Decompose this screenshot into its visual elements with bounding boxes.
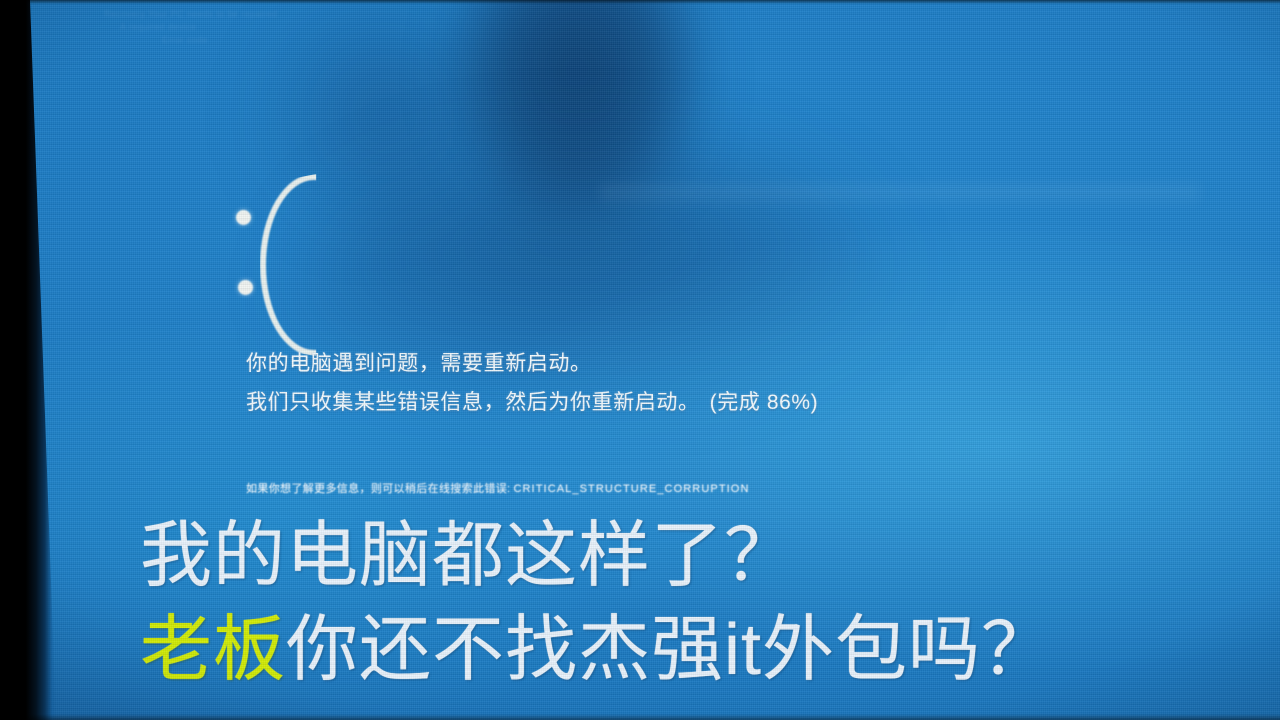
sad-face-icon (232, 196, 342, 316)
caption-highlight-word: 老板 (140, 610, 286, 690)
caption-line-2: 老板你还不找杰强it外包吗？ (140, 610, 1240, 690)
bsod-message-line-2-row: 我们只收集某些错误信息，然后为你重新启动。(完成 86%) (246, 387, 818, 418)
bsod-hint-line: 如果你想了解更多信息，则可以稍后在线搜索此错误:CRITICAL_STRUCTU… (246, 482, 750, 497)
sad-face-frown-arc (260, 174, 368, 356)
bsod-stop-code: CRITICAL_STRUCTURE_CORRUPTION (513, 483, 749, 495)
bsod-message-line-2: 我们只收集某些错误信息，然后为你重新启动。 (246, 391, 700, 414)
bsod-hint-prefix: 如果你想了解更多信息，则可以稍后在线搜索此错误: (246, 483, 510, 495)
bsod-message-block: 你的电脑遇到问题，需要重新启动。 我们只收集某些错误信息，然后为你重新启动。(完… (246, 348, 818, 418)
sad-face-eye-upper-dot (236, 210, 251, 225)
bsod-progress-text: (完成 86%) (710, 391, 819, 414)
caption-line-2-rest: 你还不找杰强it外包吗？ (286, 610, 1054, 690)
caption-overlay: 我的电脑都这样了？ 老板你还不找杰强it外包吗？ (140, 516, 1240, 690)
bsod-message-line-1: 你的电脑遇到问题，需要重新启动。 (246, 348, 818, 379)
caption-line-1: 我的电脑都这样了？ (140, 516, 1240, 596)
sad-face-eye-lower-dot (238, 280, 253, 295)
bsod-photo-screen: Recovery Your PC needs to be repaired A … (0, 0, 1280, 720)
